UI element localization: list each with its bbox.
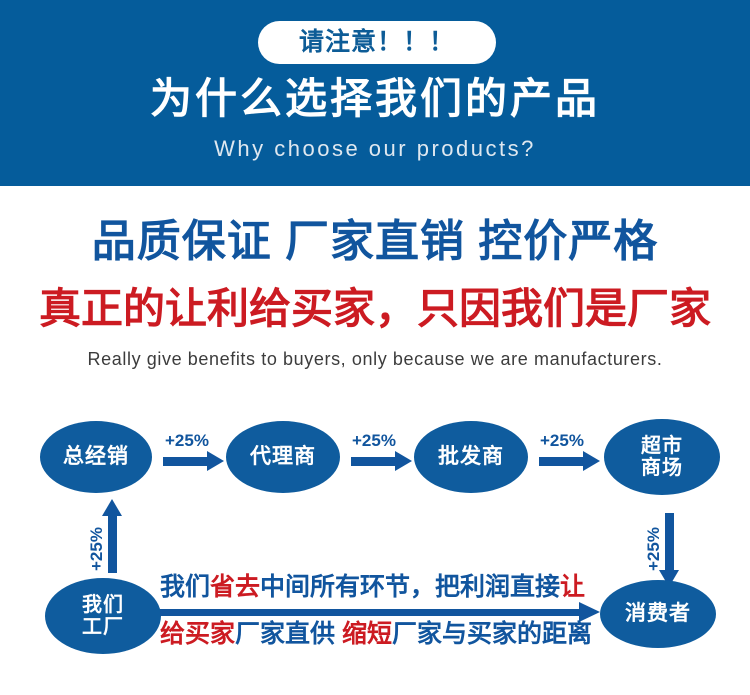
node-supermarket-mall-label-line2: 商场: [641, 457, 683, 479]
node-general-distributor-label: 总经销: [63, 445, 129, 469]
node-our-factory-label-line2: 工厂: [82, 616, 124, 638]
distribution-flow-diagram: 总经销 代理商 批发商 超市 商场 +25% +25% +25% +25% +2…: [0, 395, 750, 695]
factory-benefit-line-2: 给买家厂家直供 缩短厂家与买家的距离: [160, 622, 592, 647]
slogan-red: 真正的让利给买家，只因我们是厂家: [0, 288, 750, 330]
bt-line-1-segment-2: 中间所有环节，把利润直接: [260, 573, 560, 601]
header-band: 请注意！！！ 为什么选择我们的产品 Why choose our product…: [0, 0, 750, 186]
node-supermarket-mall-label-line1: 超市: [641, 435, 683, 457]
promo-banner: 请注意！！！ 为什么选择我们的产品 Why choose our product…: [0, 0, 750, 695]
markup-label-1: +25%: [165, 432, 209, 449]
arrow-factory-to-distributor: [108, 515, 117, 573]
bt-line-1-segment-3: 让: [560, 573, 585, 601]
factory-benefit-line-1: 我们省去中间所有环节，把利润直接让: [160, 575, 585, 600]
node-agent: 代理商: [226, 421, 340, 493]
bt-line-2-segment-1: 厂家直供: [235, 620, 342, 648]
node-supermarket-mall: 超市 商场: [604, 419, 720, 495]
attention-badge-label: 请注意！！！: [299, 30, 455, 55]
markup-label-left: +25%: [88, 527, 105, 571]
node-consumer: 消费者: [600, 580, 716, 648]
bt-line-2-segment-2: 缩短: [342, 620, 392, 648]
arrow-wholesaler-to-supermarket: [539, 457, 584, 466]
bt-line-1-segment-0: 我们: [160, 573, 210, 601]
arrow-agent-to-wholesaler: [351, 457, 396, 466]
node-wholesaler-label: 批发商: [438, 445, 504, 469]
node-agent-label: 代理商: [250, 445, 316, 469]
node-consumer-label: 消费者: [625, 602, 691, 626]
arrow-factory-to-consumer: [160, 609, 580, 616]
attention-badge: 请注意！！！: [258, 21, 496, 64]
page-subtitle: Why choose our products?: [0, 138, 750, 160]
markup-label-right: +25%: [645, 527, 662, 571]
arrow-supermarket-to-consumer: [665, 513, 674, 571]
slogan-english: Really give benefits to buyers, only bec…: [0, 350, 750, 368]
page-title: 为什么选择我们的产品: [0, 75, 750, 123]
markup-label-2: +25%: [352, 432, 396, 449]
node-wholesaler: 批发商: [414, 421, 528, 493]
node-our-factory-label-line1: 我们: [82, 594, 124, 616]
bt-line-2-segment-0: 给买家: [160, 620, 235, 648]
node-our-factory: 我们 工厂: [45, 578, 161, 654]
slogan-blue: 品质保证 厂家直销 控价严格: [0, 220, 750, 264]
node-general-distributor: 总经销: [40, 421, 152, 493]
bt-line-1-segment-1: 省去: [210, 573, 260, 601]
bt-line-2-segment-3: 厂家与买家的距离: [392, 620, 592, 648]
markup-label-3: +25%: [540, 432, 584, 449]
arrow-distributor-to-agent: [163, 457, 208, 466]
